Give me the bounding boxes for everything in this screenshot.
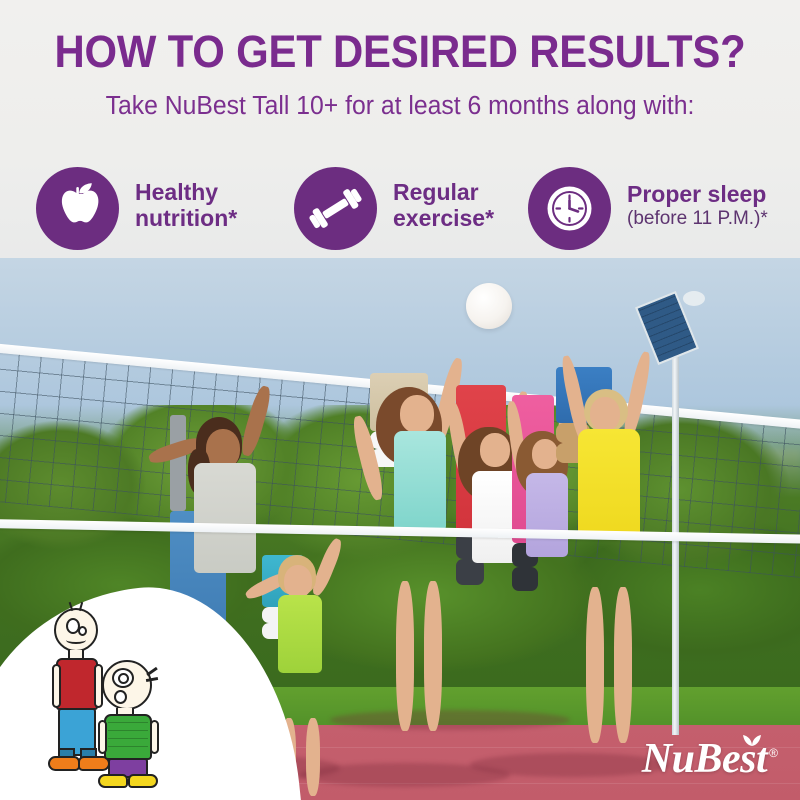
badge-label: Regular exercise* [393,180,494,232]
player-yellow-top [556,367,612,463]
badge-line1: Regular [393,180,494,206]
badge-line1: Healthy [135,180,237,206]
apple-icon-circle [36,167,119,250]
badge-label: Healthy nutrition* [135,180,237,232]
lamp-head [683,291,705,306]
cartoon-short-character [96,660,176,778]
poster-root: HOW TO GET DESIRED RESULTS? Take NuBest … [0,0,800,800]
player-green-top [262,555,304,639]
court-shadow [330,710,570,730]
player-mint-tank [370,373,428,467]
benefit-badges: Healthy nutrition* [0,158,800,254]
badge-line2: exercise* [393,206,494,232]
header-panel: HOW TO GET DESIRED RESULTS? Take NuBest … [0,0,800,258]
lamp-pole [672,315,679,735]
dumbbell-icon [294,167,377,250]
clock-icon [528,167,611,250]
player-white-tee-red-pants [456,385,506,585]
nubest-logo[interactable]: NuBest ® [642,738,778,780]
player-lilac-top-pink-pants [512,395,554,591]
page-subtitle: Take NuBest Tall 10+ for at least 6 mont… [12,92,788,121]
leaf-icon [742,731,762,747]
court-shadow [470,753,670,777]
badge-regular-exercise[interactable]: Regular exercise* [294,158,494,254]
registered-trademark: ® [769,746,778,760]
dumbbell-icon-circle [294,167,377,250]
badge-line2: nutrition* [135,206,237,232]
volleyball [466,283,512,329]
apple-icon [36,167,119,250]
badge-sublabel: (before 11 P.M.)* [627,208,768,229]
badge-line1: Proper sleep [627,182,768,208]
badge-healthy-nutrition[interactable]: Healthy nutrition* [36,158,237,254]
page-title: HOW TO GET DESIRED RESULTS? [28,26,772,78]
clock-icon-circle [528,167,611,250]
badge-label: Proper sleep (before 11 P.M.)* [627,182,768,229]
badge-proper-sleep[interactable]: Proper sleep (before 11 P.M.)* [528,158,768,254]
